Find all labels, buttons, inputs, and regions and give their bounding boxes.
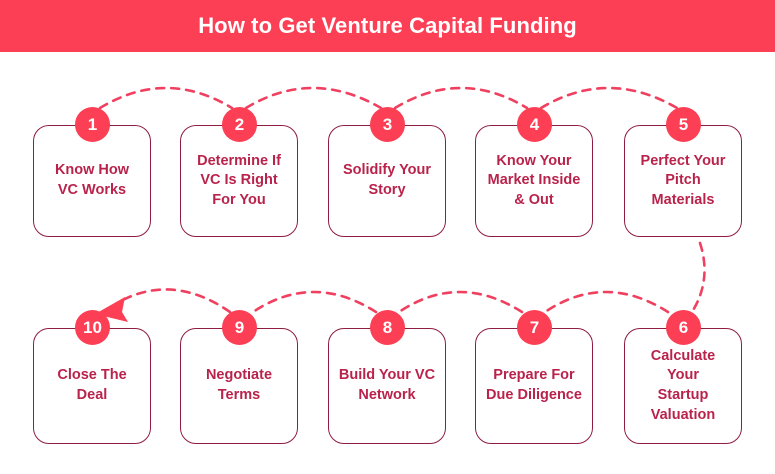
connector-9-10 — [117, 289, 230, 312]
step-10-label: Close The Deal — [51, 366, 132, 405]
step-4-badge: 4 — [517, 107, 552, 142]
step-2-badge: 2 — [222, 107, 257, 142]
step-9-badge: 9 — [222, 310, 257, 345]
step-10-card[interactable]: Close The Deal — [33, 328, 151, 444]
connector-1-2 — [100, 88, 232, 108]
step-7-badge: 7 — [517, 310, 552, 345]
step-8-label: Build Your VC Network — [333, 366, 441, 405]
page-title: How to Get Venture Capital Funding — [198, 15, 577, 37]
step-9-card[interactable]: Negotiate Terms — [180, 328, 298, 444]
step-6-badge: 6 — [666, 310, 701, 345]
step-7-label: Prepare For Due Diligence — [480, 366, 588, 405]
step-5-label: Perfect Your Pitch Materials — [635, 152, 732, 211]
step-6-label: Calculate Your Startup Valuation — [645, 347, 721, 425]
step-1-badge: 1 — [75, 107, 110, 142]
step-8-badge: 8 — [370, 310, 405, 345]
step-8-card[interactable]: Build Your VC Network — [328, 328, 446, 444]
infographic-root: How to Get Venture Capital Funding Know … — [0, 0, 775, 474]
step-4-label: Know Your Market Inside & Out — [482, 152, 587, 211]
step-6-card[interactable]: Calculate Your Startup Valuation — [624, 328, 742, 444]
connector-5-6 — [692, 243, 705, 312]
connector-4-5 — [541, 88, 677, 108]
step-7-card[interactable]: Prepare For Due Diligence — [475, 328, 593, 444]
step-3-label: Solidify Your Story — [337, 161, 437, 200]
step-3-badge: 3 — [370, 107, 405, 142]
step-2-label: Determine If VC Is Right For You — [191, 152, 287, 211]
header-bar: How to Get Venture Capital Funding — [0, 0, 775, 52]
step-5-badge: 5 — [666, 107, 701, 142]
connector-2-3 — [246, 88, 381, 108]
connector-8-9 — [253, 292, 376, 312]
connector-3-4 — [395, 88, 527, 108]
step-9-label: Negotiate Terms — [200, 366, 278, 405]
step-10-badge: 10 — [75, 310, 110, 345]
step-1-label: Know How VC Works — [49, 161, 135, 200]
connector-6-7 — [545, 292, 668, 312]
connector-7-8 — [399, 292, 522, 312]
